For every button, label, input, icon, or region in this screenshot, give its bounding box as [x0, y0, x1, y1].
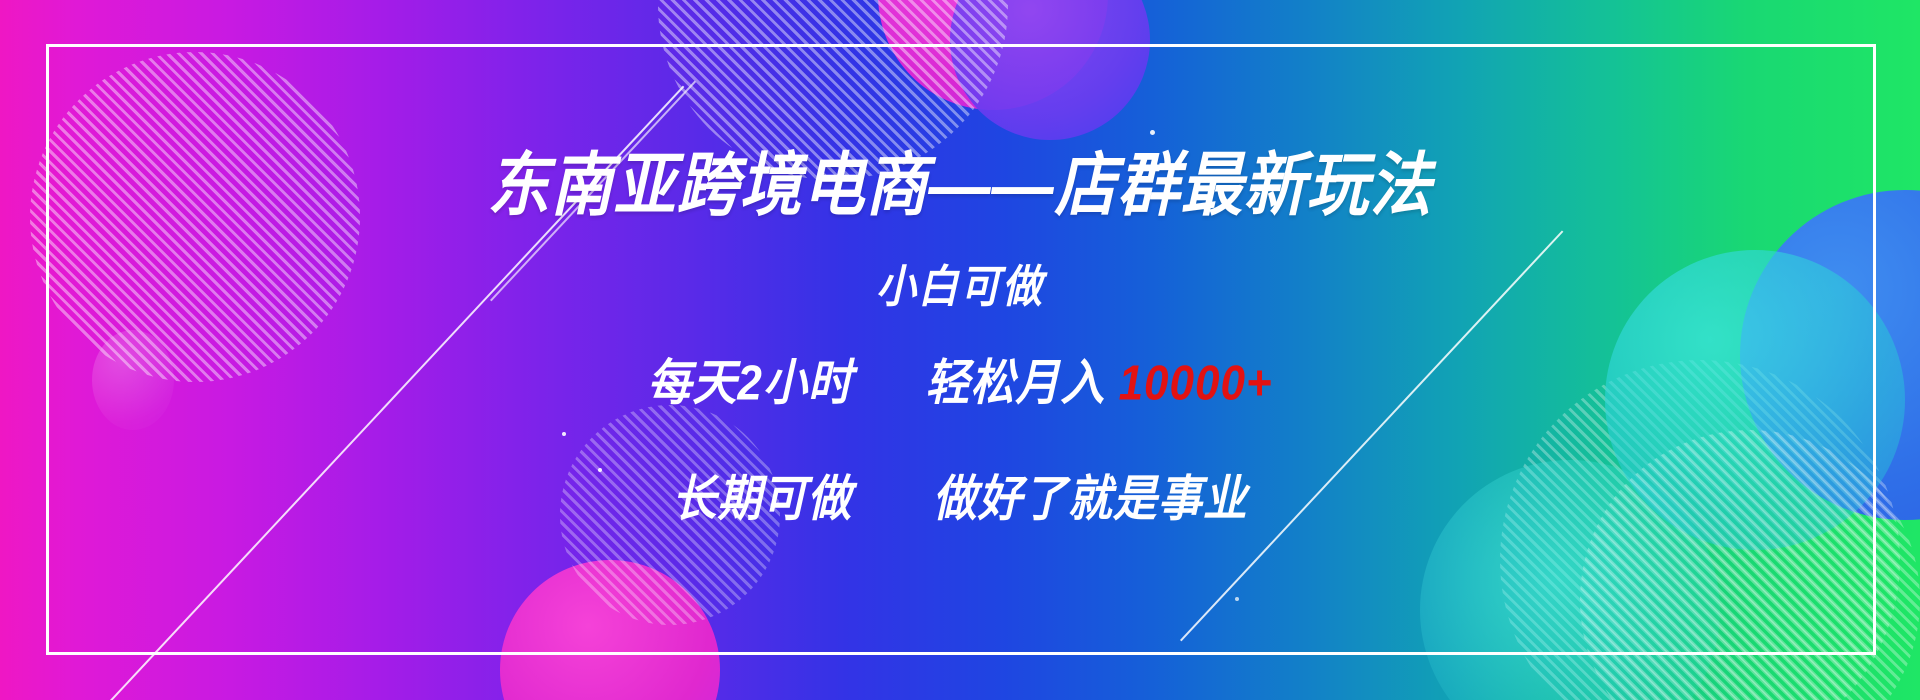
subline-2-left: 每天2小时: [647, 356, 852, 411]
subline-3-right: 做好了就是事业: [933, 472, 1248, 527]
banner-content: 东南亚跨境电商——店群最新玩法 小白可做 每天2小时 轻松月入 10000+ 长…: [0, 0, 1920, 700]
subline-2-right: 轻松月入: [925, 356, 1105, 411]
promo-banner: 东南亚跨境电商——店群最新玩法 小白可做 每天2小时 轻松月入 10000+ 长…: [0, 0, 1920, 700]
banner-headline: 东南亚跨境电商——店群最新玩法: [487, 152, 1432, 221]
subline-3-left: 长期可做: [672, 472, 852, 527]
subline-2-highlight: 10000+: [1119, 356, 1273, 411]
banner-subline-1: 小白可做: [876, 251, 1044, 316]
banner-subline-2: 每天2小时 轻松月入 10000+: [647, 342, 1272, 414]
banner-subline-3: 长期可做 做好了就是事业: [672, 458, 1247, 530]
